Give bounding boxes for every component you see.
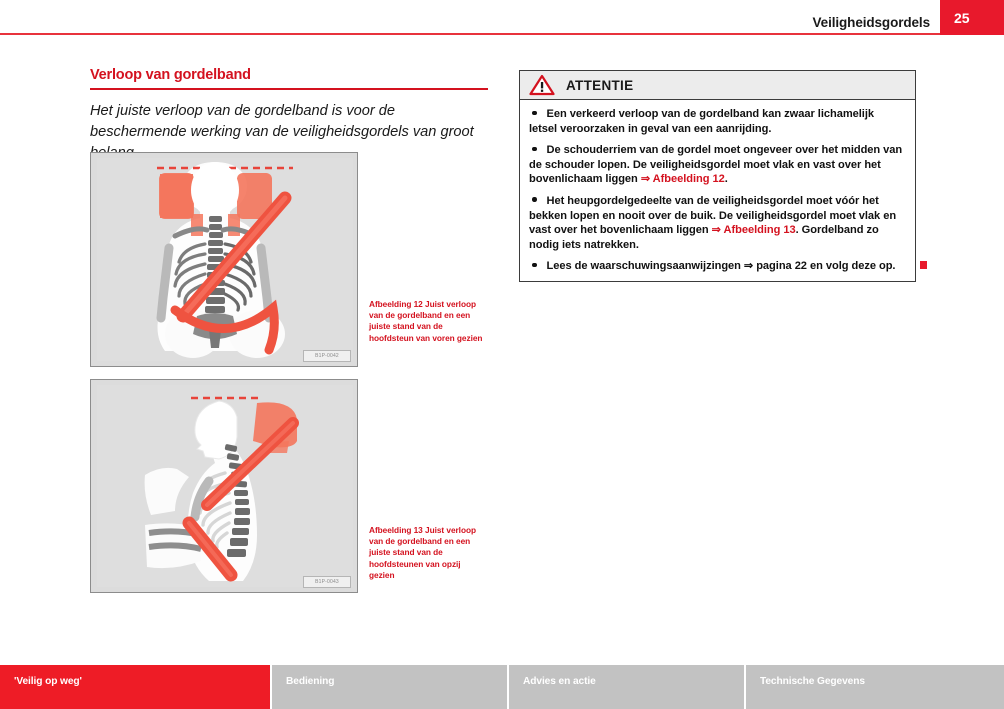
- figure-12-image: [97, 158, 351, 361]
- header-divider-rule: [0, 33, 1004, 35]
- page-header: Veiligheidsgordels 25: [0, 0, 1004, 36]
- warning-text: Een verkeerd verloop van de gordelband k…: [529, 108, 874, 135]
- warning-bullet-item: Een verkeerd verloop van de gordelband k…: [529, 107, 905, 136]
- footer-navigation: 'Veilig op weg'BedieningAdvies en actieT…: [0, 665, 1004, 709]
- left-content-column: Verloop van gordelband Het juiste verloo…: [90, 66, 490, 164]
- cross-reference-link[interactable]: ⇒ Afbeelding 13: [712, 224, 796, 236]
- attention-warning-header: ATTENTIE: [520, 71, 915, 100]
- warning-text: Lees de waarschuwingsaanwijzingen ⇒ pagi…: [547, 260, 896, 272]
- warning-bullet-item: Lees de waarschuwingsaanwijzingen ⇒ pagi…: [529, 259, 905, 274]
- section-title-underline: [90, 88, 488, 90]
- page-edge-marker: [920, 261, 927, 269]
- footer-tab-2[interactable]: Advies en actie: [507, 665, 744, 709]
- page-number: 25: [954, 10, 970, 26]
- warning-bullet-item: Het heupgordelgedeelte van de veiligheid…: [529, 194, 905, 252]
- warning-bullet-item: De schouderriem van de gordel moet ongev…: [529, 143, 905, 187]
- bullet-dot-icon: [532, 111, 537, 116]
- warning-text: .: [725, 173, 728, 185]
- figure-13-watermark: B1P-0043: [303, 576, 351, 588]
- footer-tab-0[interactable]: 'Veilig op weg': [0, 665, 270, 709]
- footer-tab-label: Advies en actie: [523, 676, 596, 687]
- bullet-dot-icon: [532, 147, 537, 152]
- bullet-dot-icon: [532, 197, 537, 202]
- cross-reference-link[interactable]: ⇒ Afbeelding 12: [641, 173, 725, 185]
- figure-12-frame: B1P-0042: [90, 152, 358, 367]
- figure-13-caption: Afbeelding 13 Juist verloop van de gorde…: [369, 525, 487, 581]
- footer-tab-1[interactable]: Bediening: [270, 665, 507, 709]
- footer-tab-3[interactable]: Technische Gegevens: [744, 665, 1004, 709]
- warning-triangle-icon: [529, 74, 555, 96]
- page-number-block: 25: [940, 0, 1004, 35]
- attention-warning-box: ATTENTIE Een verkeerd verloop van de gor…: [519, 70, 916, 282]
- bullet-dot-icon: [532, 263, 537, 268]
- attention-warning-body: Een verkeerd verloop van de gordelband k…: [520, 100, 915, 281]
- figure-12-watermark: B1P-0042: [303, 350, 351, 362]
- footer-tab-label: Bediening: [286, 676, 334, 687]
- figure-12-caption: Afbeelding 12 Juist verloop van de gorde…: [369, 299, 487, 344]
- footer-tab-label: Technische Gegevens: [760, 676, 865, 687]
- section-title: Verloop van gordelband: [90, 66, 490, 84]
- attention-warning-title: ATTENTIE: [566, 78, 633, 93]
- footer-tab-label: 'Veilig op weg': [14, 676, 82, 687]
- figure-13-image: [97, 385, 351, 587]
- front-view-skeleton-belt-illustration: [97, 158, 353, 361]
- header-chapter-title: Veiligheidsgordels: [813, 15, 931, 30]
- side-view-skeleton-belt-illustration: [97, 385, 353, 587]
- figure-13-frame: B1P-0043: [90, 379, 358, 593]
